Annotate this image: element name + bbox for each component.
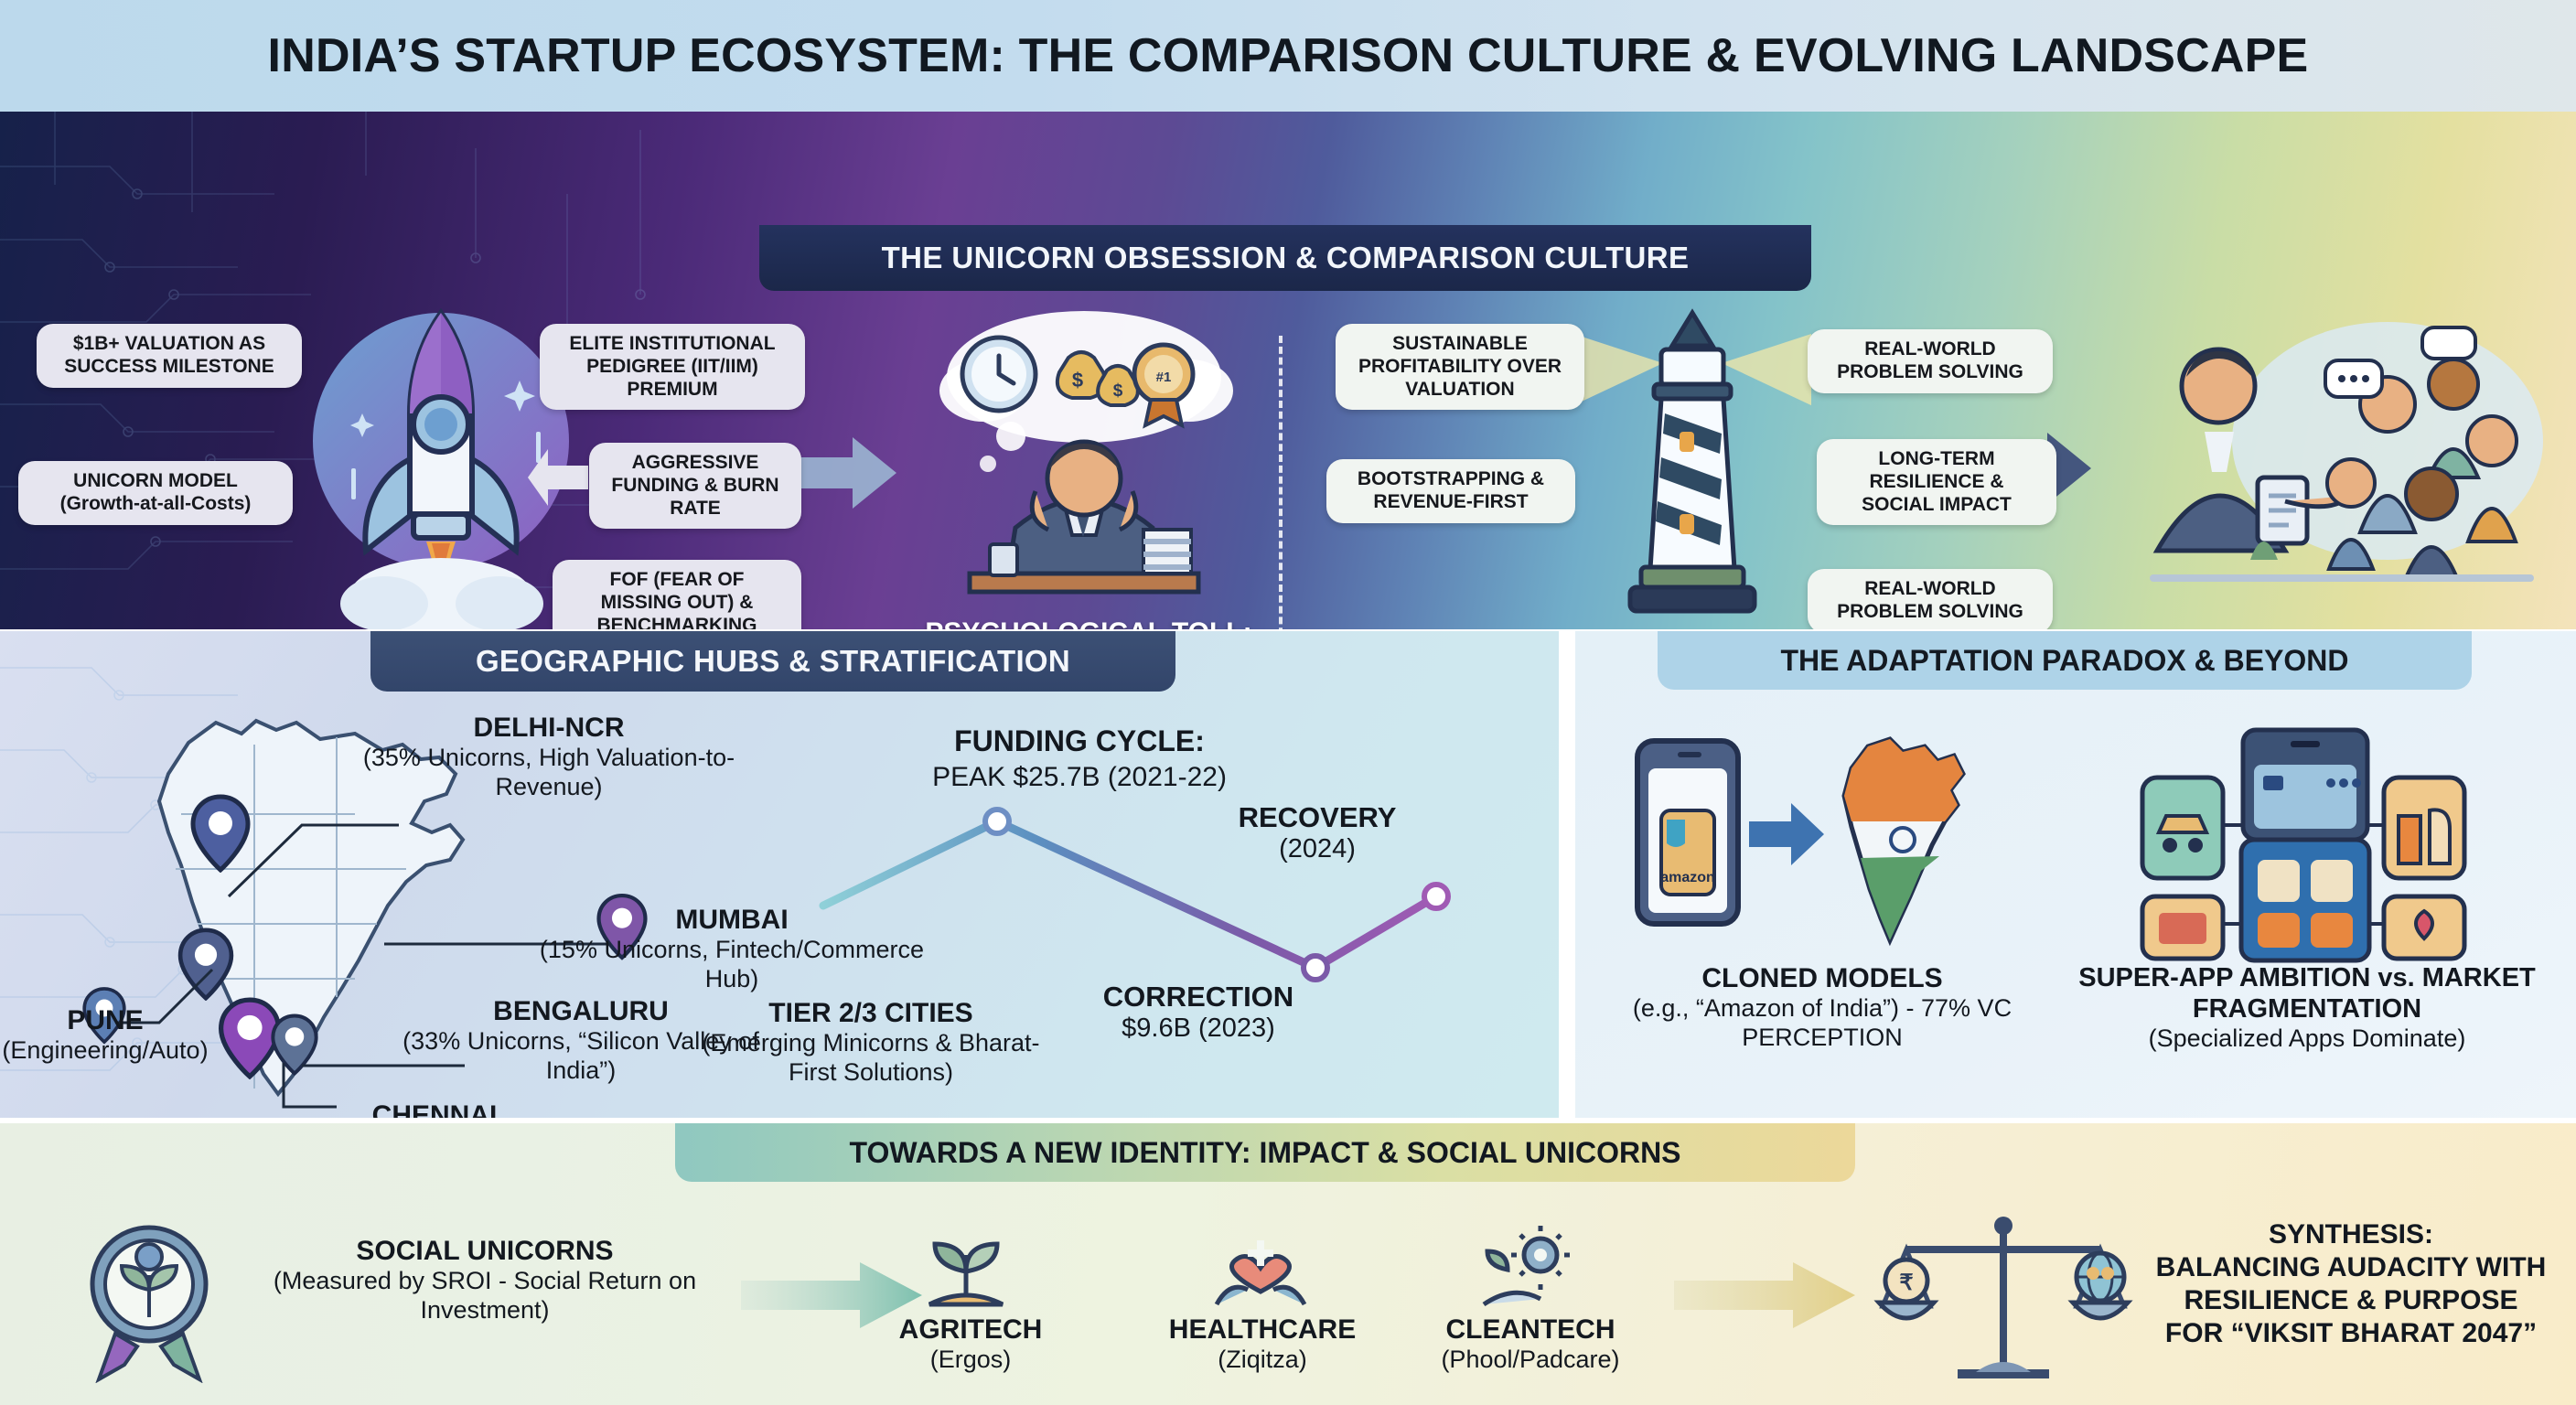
callout-bootstrapping: BOOTSTRAPPING & REVENUE-FIRST bbox=[1326, 459, 1575, 523]
synthesis-line2: BALANCING AUDACITY WITH bbox=[2131, 1251, 2571, 1284]
sector-example: (Phool/Padcare) bbox=[1398, 1346, 1663, 1375]
callout-real-world-top: REAL-WORLD PROBLEM SOLVING bbox=[1808, 329, 2053, 393]
synthesis-line3: RESILIENCE & PURPOSE bbox=[2131, 1284, 2571, 1317]
callout-aggressive-funding: AGGRESSIVE FUNDING & BURN RATE bbox=[589, 443, 801, 529]
paradox-detail: (e.g., “Amazon of India”) - 77% VC PERCE… bbox=[1603, 994, 2042, 1053]
hub-label-chennai: CHENNAI (SaaS/Healthtech) bbox=[256, 1099, 613, 1118]
map-pin-mumbai-west[interactable] bbox=[172, 631, 227, 702]
agritech-icon bbox=[915, 1224, 1017, 1312]
sector-label-healthcare: HEALTHCARE (Ziqitza) bbox=[1134, 1314, 1390, 1375]
callout-label: UNICORN MODEL bbox=[73, 470, 238, 491]
paradox-title: CLONED MODELS bbox=[1603, 962, 2042, 994]
paradox-label-cloned-models: CLONED MODELS (e.g., “Amazon of India”) … bbox=[1603, 962, 2042, 1053]
funding-chart-title: FUNDING CYCLE: PEAK $25.7B (2021-22) bbox=[823, 724, 1336, 793]
social-unicorn-badge-icon bbox=[71, 1218, 227, 1383]
section2-banner-label: GEOGRAPHIC HUBS & STRATIFICATION bbox=[476, 644, 1070, 679]
sector-name: AGRITECH bbox=[856, 1314, 1085, 1346]
section-new-identity: TOWARDS A NEW IDENTITY: IMPACT & SOCIAL … bbox=[0, 1123, 2576, 1405]
synthesis-label: SYNTHESIS: BALANCING AUDACITY WITH RESIL… bbox=[2131, 1218, 2571, 1350]
callout-label: FOF (FEAR OF MISSING OUT) & BENCHMARKING bbox=[597, 569, 757, 629]
caption-psychological-toll: PSYCHOLOGICAL TOLL: 62% FOUNDERS REPORT … bbox=[869, 617, 1308, 629]
sector-label-cleantech: CLEANTECH (Phool/Padcare) bbox=[1398, 1314, 1663, 1375]
lighthouse-illustration bbox=[1573, 295, 1811, 629]
page-title-bar: INDIA’S STARTUP ECOSYSTEM: THE COMPARISO… bbox=[0, 0, 2576, 112]
cloned-models-illustration: amazon bbox=[1630, 732, 2051, 951]
chart-annotation-correction: CORRECTION $9.6B (2023) bbox=[1043, 981, 1354, 1044]
callout-sustainable-profitability: SUSTAINABLE PROFITABILITY OVER VALUATION bbox=[1336, 324, 1584, 410]
annotation-sub: (2024) bbox=[1180, 834, 1454, 864]
chart-title: FUNDING CYCLE: bbox=[823, 724, 1336, 758]
annotation-sub: $9.6B (2023) bbox=[1043, 1014, 1354, 1044]
page-title: INDIA’S STARTUP ECOSYSTEM: THE COMPARISO… bbox=[268, 28, 2309, 83]
leader-line-delhi bbox=[220, 805, 402, 906]
hub-label-pune: PUNE (Engineering/Auto) bbox=[0, 1004, 210, 1066]
callout-valuation-milestone: $1B+ VALUATION AS SUCCESS MILESTONE bbox=[37, 324, 302, 388]
sector-name: CLEANTECH bbox=[1398, 1314, 1663, 1346]
callout-unicorn-model: UNICORN MODEL (Growth-at-all-Costs) bbox=[18, 461, 293, 525]
section-geographic-hubs: GEOGRAPHIC HUBS & STRATIFICATION bbox=[0, 631, 1559, 1118]
arrow-left-icon-1 bbox=[526, 445, 590, 509]
callout-label: $1B+ VALUATION AS SUCCESS MILESTONE bbox=[64, 333, 274, 377]
callout-long-term-resilience: LONG-TERM RESILIENCE & SOCIAL IMPACT bbox=[1817, 439, 2056, 525]
section4-banner: TOWARDS A NEW IDENTITY: IMPACT & SOCIAL … bbox=[675, 1123, 1855, 1182]
hub-name: CHENNAI bbox=[256, 1099, 613, 1118]
hub-label-delhi: DELHI-NCR (35% Unicorns, High Valuation-… bbox=[357, 712, 741, 802]
callout-label: REAL-WORLD PROBLEM SOLVING bbox=[1837, 578, 2023, 622]
callout-label: ELITE INSTITUTIONAL PEDIGREE (IIT/IIM) P… bbox=[569, 333, 775, 400]
caption-line1: PSYCHOLOGICAL TOLL: bbox=[925, 617, 1251, 629]
svg-text:$: $ bbox=[1072, 369, 1083, 391]
arrow-right-icon-4 bbox=[1674, 1259, 1857, 1332]
phone-brand-label: amazon bbox=[1660, 870, 1715, 885]
community-illustration bbox=[2113, 304, 2543, 615]
hub-name: DELHI-NCR bbox=[357, 712, 741, 744]
social-unicorns-title: SOCIAL UNICORNS bbox=[247, 1235, 723, 1267]
synthesis-line1: SYNTHESIS: bbox=[2131, 1218, 2571, 1251]
callout-fof-benchmarking: FOF (FEAR OF MISSING OUT) & BENCHMARKING bbox=[553, 560, 801, 629]
sector-example: (Ergos) bbox=[856, 1346, 1085, 1375]
annotation-label: CORRECTION bbox=[1043, 981, 1354, 1014]
paradox-detail: (Specialized Apps Dominate) bbox=[2051, 1024, 2563, 1054]
section3-banner-label: THE ADAPTATION PARADOX & BEYOND bbox=[1780, 644, 2348, 678]
callout-label: BOOTSTRAPPING & REVENUE-FIRST bbox=[1358, 468, 1544, 512]
section4-banner-label: TOWARDS A NEW IDENTITY: IMPACT & SOCIAL … bbox=[849, 1136, 1680, 1170]
callout-label: LONG-TERM RESILIENCE & SOCIAL IMPACT bbox=[1862, 448, 2012, 515]
hub-detail: (Engineering/Auto) bbox=[0, 1036, 210, 1066]
callout-sublabel: (Growth-at-all-Costs) bbox=[60, 493, 252, 514]
arrow-right-icon-1 bbox=[789, 432, 898, 514]
section1-divider bbox=[1279, 336, 1283, 629]
section2-banner: GEOGRAPHIC HUBS & STRATIFICATION bbox=[370, 631, 1175, 692]
callout-real-world-bottom: REAL-WORLD PROBLEM SOLVING bbox=[1808, 569, 2053, 629]
callout-label: SUSTAINABLE PROFITABILITY OVER VALUATION bbox=[1358, 333, 1562, 400]
section-adaptation-paradox: THE ADAPTATION PARADOX & BEYOND amazon bbox=[1575, 631, 2576, 1118]
hub-name: PUNE bbox=[0, 1004, 210, 1036]
social-unicorns-label: SOCIAL UNICORNS (Measured by SROI - Soci… bbox=[247, 1235, 723, 1325]
paradox-title: SUPER-APP AMBITION vs. MARKET FRAGMENTAT… bbox=[2051, 962, 2563, 1024]
social-unicorns-detail: (Measured by SROI - Social Return on Inv… bbox=[247, 1267, 723, 1325]
cleantech-icon bbox=[1473, 1224, 1579, 1312]
svg-text:₹: ₹ bbox=[1899, 1271, 1913, 1295]
burnout-founder-illustration: $ $ #1 bbox=[915, 299, 1253, 619]
hub-detail: (35% Unicorns, High Valuation-to-Revenue… bbox=[357, 744, 741, 802]
synthesis-line4: FOR “VIKSIT BHARAT 2047” bbox=[2131, 1317, 2571, 1350]
sector-label-agritech: AGRITECH (Ergos) bbox=[856, 1314, 1085, 1375]
section1-banner-label: THE UNICORN OBSESSION & COMPARISON CULTU… bbox=[882, 241, 1690, 275]
annotation-label: RECOVERY bbox=[1180, 801, 1454, 834]
callout-label: AGGRESSIVE FUNDING & BURN RATE bbox=[611, 452, 778, 519]
svg-text:$: $ bbox=[1113, 381, 1123, 401]
chart-annotation-recovery: RECOVERY (2024) bbox=[1180, 801, 1454, 864]
paradox-label-super-app: SUPER-APP AMBITION vs. MARKET FRAGMENTAT… bbox=[2051, 962, 2563, 1054]
svg-text:#1: #1 bbox=[1156, 370, 1172, 385]
super-app-illustration bbox=[2088, 723, 2517, 970]
section3-banner: THE ADAPTATION PARADOX & BEYOND bbox=[1658, 631, 2472, 690]
callout-elite-pedigree: ELITE INSTITUTIONAL PEDIGREE (IIT/IIM) P… bbox=[540, 324, 805, 410]
section1-banner: THE UNICORN OBSESSION & COMPARISON CULTU… bbox=[759, 225, 1811, 291]
section-unicorn-obsession: THE UNICORN OBSESSION & COMPARISON CULTU… bbox=[0, 112, 2576, 629]
callout-label: REAL-WORLD PROBLEM SOLVING bbox=[1837, 338, 2023, 382]
sector-example: (Ziqitza) bbox=[1134, 1346, 1390, 1375]
healthcare-icon bbox=[1207, 1224, 1314, 1312]
sector-name: HEALTHCARE bbox=[1134, 1314, 1390, 1346]
balance-scale-icon: ₹ bbox=[1866, 1211, 2141, 1394]
